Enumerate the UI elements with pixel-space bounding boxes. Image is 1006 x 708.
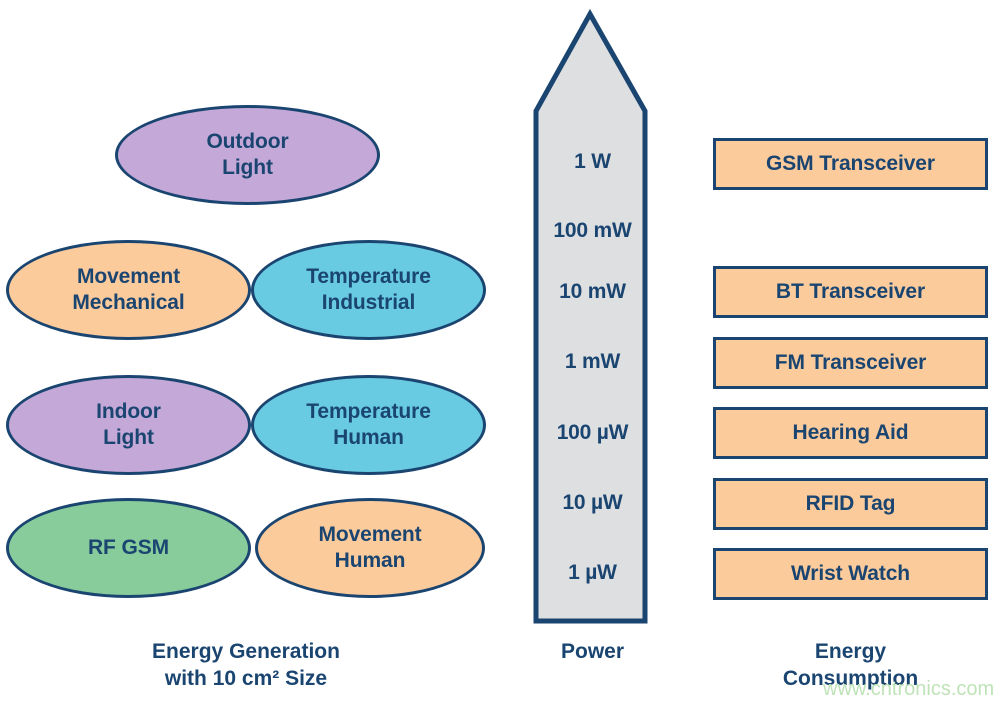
- generation-ellipse-movement-human[interactable]: Movement Human: [255, 498, 485, 598]
- generation-ellipse-label: Movement Mechanical: [72, 264, 184, 315]
- consumption-box-label: FM Transceiver: [775, 351, 927, 375]
- diagram-canvas: Outdoor Light Movement Mechanical Temper…: [0, 0, 1006, 708]
- generation-ellipse-label: Temperature Industrial: [306, 264, 431, 315]
- consumption-box-label: Hearing Aid: [793, 421, 909, 445]
- power-tick-1mw: 1 mW: [520, 350, 665, 374]
- consumption-box-label: BT Transceiver: [776, 280, 925, 304]
- power-tick-label: 10 µW: [562, 491, 622, 514]
- power-tick-100mw: 100 mW: [520, 219, 665, 243]
- generation-ellipse-movement-mechanical[interactable]: Movement Mechanical: [6, 240, 251, 340]
- generation-ellipse-label: Temperature Human: [306, 399, 431, 450]
- consumption-box-label: GSM Transceiver: [766, 152, 935, 176]
- consumption-box-label: Wrist Watch: [791, 562, 910, 586]
- consumption-box-fm-transceiver[interactable]: FM Transceiver: [713, 337, 988, 389]
- generation-ellipse-outdoor-light[interactable]: Outdoor Light: [115, 105, 380, 205]
- consumption-box-hearing-aid[interactable]: Hearing Aid: [713, 407, 988, 459]
- power-tick-1uw: 1 µW: [520, 561, 665, 585]
- consumption-box-rfid-tag[interactable]: RFID Tag: [713, 478, 988, 530]
- generation-ellipse-label: Movement Human: [318, 522, 421, 573]
- power-tick-label: 10 mW: [559, 280, 626, 303]
- generation-ellipse-temperature-industrial[interactable]: Temperature Industrial: [251, 240, 486, 340]
- power-tick-10uw: 10 µW: [520, 491, 665, 515]
- consumption-box-gsm-transceiver[interactable]: GSM Transceiver: [713, 138, 988, 190]
- consumption-box-wrist-watch[interactable]: Wrist Watch: [713, 548, 988, 600]
- power-scale-arrow: [520, 5, 665, 630]
- power-tick-10mw: 10 mW: [520, 280, 665, 304]
- generation-ellipse-indoor-light[interactable]: Indoor Light: [6, 375, 251, 475]
- power-caption: Power: [520, 638, 665, 665]
- power-tick-1w: 1 W: [520, 150, 665, 174]
- power-tick-label: 1 µW: [568, 561, 617, 584]
- consumption-box-bt-transceiver[interactable]: BT Transceiver: [713, 266, 988, 318]
- generation-ellipse-temperature-human[interactable]: Temperature Human: [251, 375, 486, 475]
- power-tick-label: 1 mW: [565, 350, 620, 373]
- generation-ellipse-label: Indoor Light: [96, 399, 161, 450]
- power-tick-label: 100 mW: [553, 219, 631, 242]
- power-tick-100uw: 100 µW: [520, 421, 665, 445]
- power-arrow-shape: [536, 14, 645, 621]
- consumption-box-label: RFID Tag: [806, 492, 896, 516]
- generation-ellipse-label: RF GSM: [88, 535, 169, 561]
- power-tick-label: 1 W: [574, 150, 611, 173]
- generation-ellipse-rf-gsm[interactable]: RF GSM: [6, 498, 251, 598]
- generation-ellipse-label: Outdoor Light: [206, 129, 288, 180]
- generation-caption: Energy Generation with 10 cm² Size: [6, 638, 486, 693]
- site-watermark: www.cntronics.com: [823, 678, 994, 701]
- power-tick-label: 100 µW: [557, 421, 629, 444]
